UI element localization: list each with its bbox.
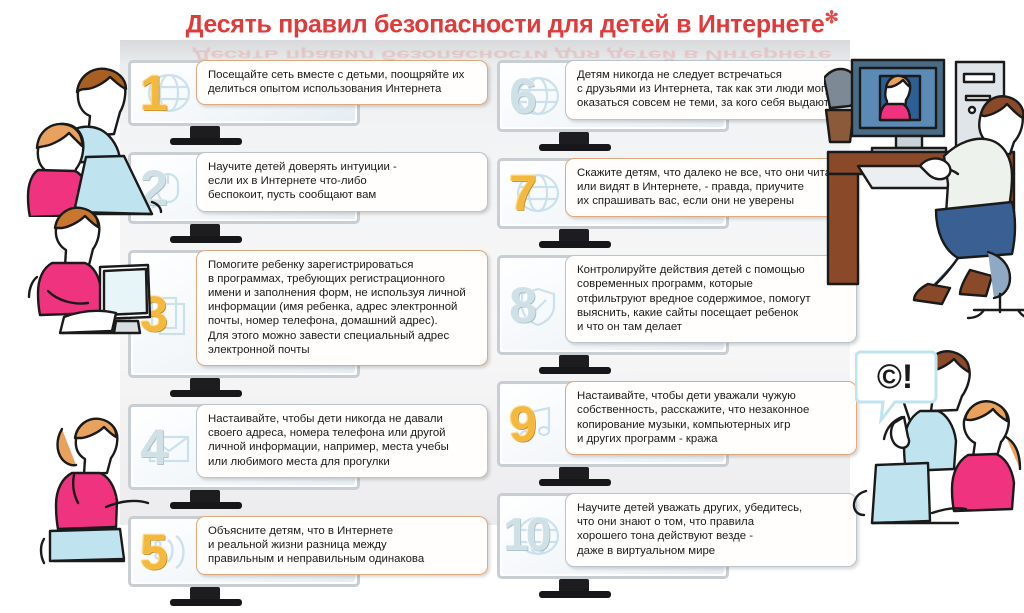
rule-number: 6 [509, 71, 537, 121]
rule-number: 9 [509, 399, 537, 449]
rule-number: 7 [509, 168, 537, 218]
rule-text: Контролируйте действия детей с помощью с… [577, 263, 846, 334]
rule-text: Настаивайте, чтобы дети никогда не давал… [208, 412, 477, 469]
monitor-base [170, 390, 242, 397]
monitor-base [539, 241, 611, 248]
rule-callout: Посещайте сеть вместе с детьми, поощряйт… [196, 60, 488, 105]
monitor-stand [190, 224, 220, 237]
rule-item: 2Научите детей доверять интуиции - если … [128, 152, 488, 244]
monitor-base [170, 502, 242, 509]
rule-text: Детям никогда не следует встречаться с д… [577, 68, 846, 111]
rule-text: Настаивайте, чтобы дети уважали чужую со… [577, 389, 846, 446]
rule-callout: Объясните детям, что в Интернете и реаль… [196, 516, 488, 576]
rule-text: Научите детей доверять интуиции - если и… [208, 160, 477, 203]
monitor-base [170, 599, 242, 606]
monitor-stand [190, 490, 220, 503]
rule-item: 4Настаивайте, чтобы дети никогда не дава… [128, 404, 488, 510]
rule-item: 9Настаивайте, чтобы дети уважали чужую с… [497, 381, 857, 487]
rule-item: 7Скажите детям, что далеко не все, что о… [497, 158, 857, 250]
rule-text: Научите детей уважать других, убедитесь,… [577, 501, 846, 558]
monitor-base [170, 138, 242, 145]
rule-item: 8Контролируйте действия детей с помощью … [497, 255, 857, 375]
rules-column-left: 1Посещайте сеть вместе с детьми, поощряй… [128, 60, 488, 613]
page-title: Десять правил безопасности для детей в И… [0, 8, 1024, 39]
illustration-girl-at-desk [10, 415, 150, 565]
illustration-man-at-desktop-computer [824, 48, 1024, 323]
page-title-text: Десять правил безопасности для детей в И… [186, 10, 825, 38]
rules-column-right: 6Детям никогда не следует встречаться с … [497, 60, 857, 605]
monitor-base [539, 144, 611, 151]
monitor-base [170, 236, 242, 243]
rule-callout: Настаивайте, чтобы дети никогда не давал… [196, 404, 488, 478]
copyright-speech-text: ©! [877, 358, 913, 396]
rule-callout: Скажите детям, что далеко не все, что он… [565, 158, 857, 218]
infographic-page: Десять правил безопасности для детей в И… [0, 0, 1024, 573]
rule-item: 1Посещайте сеть вместе с детьми, поощряй… [128, 60, 488, 146]
rule-number: 8 [509, 280, 537, 330]
rule-text: Объясните детям, что в Интернете и реаль… [208, 524, 477, 567]
rule-callout: Научите детей доверять интуиции - если и… [196, 152, 488, 212]
rule-text: Помогите ребенку зарегистрироваться в пр… [208, 258, 477, 357]
rule-text: Скажите детям, что далеко не все, что он… [577, 166, 846, 209]
monitor-base [539, 479, 611, 486]
illustration-mother-and-daughter-at-laptop [14, 52, 164, 217]
monitor-stand [559, 579, 589, 592]
monitor-base [539, 591, 611, 598]
rule-callout: Помогите ребенку зарегистрироваться в пр… [196, 250, 488, 366]
rule-callout: Настаивайте, чтобы дети уважали чужую со… [565, 381, 857, 455]
monitor-base [539, 367, 611, 374]
rule-item: 5Объясните детям, что в Интернете и реал… [128, 516, 488, 608]
rule-item: 10Научите детей уважать других, убедитес… [497, 493, 857, 599]
rule-callout: Контролируйте действия детей с помощью с… [565, 255, 857, 343]
rule-callout: Детям никогда не следует встречаться с д… [565, 60, 857, 120]
illustration-woman-and-child-reading [4, 205, 154, 350]
rule-callout: Научите детей уважать других, убедитесь,… [565, 493, 857, 567]
asterisk-icon: ✻ [824, 8, 838, 27]
monitor-stand [559, 132, 589, 145]
rule-item: 3Помогите ребенку зарегистрироваться в п… [128, 250, 488, 398]
copyright-speech-bubble: ©! [855, 348, 941, 429]
rule-item: 6Детям никогда не следует встречаться с … [497, 60, 857, 152]
rule-number: 10 [503, 511, 548, 557]
rule-text: Посещайте сеть вместе с детьми, поощряйт… [208, 68, 477, 96]
